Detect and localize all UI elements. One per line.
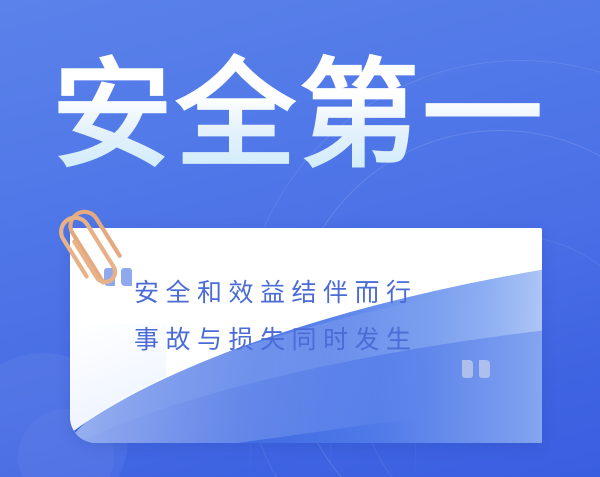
quote-card: 安全和效益结伴而行 事故与损失同时发生 xyxy=(70,228,542,443)
quote-line-1: 安全和效益结伴而行 xyxy=(134,270,524,317)
title-block: 安全第一 xyxy=(52,52,582,180)
quote-text-block: 安全和效益结伴而行 事故与损失同时发生 xyxy=(134,270,524,364)
page-title: 安全第一 xyxy=(52,52,593,180)
quote-open-icon xyxy=(104,268,132,286)
safety-poster: 安全第一 安全和效益结伴而行 事故与损失同时发生 xyxy=(0,0,600,477)
quote-line-2: 事故与损失同时发生 xyxy=(134,317,524,364)
